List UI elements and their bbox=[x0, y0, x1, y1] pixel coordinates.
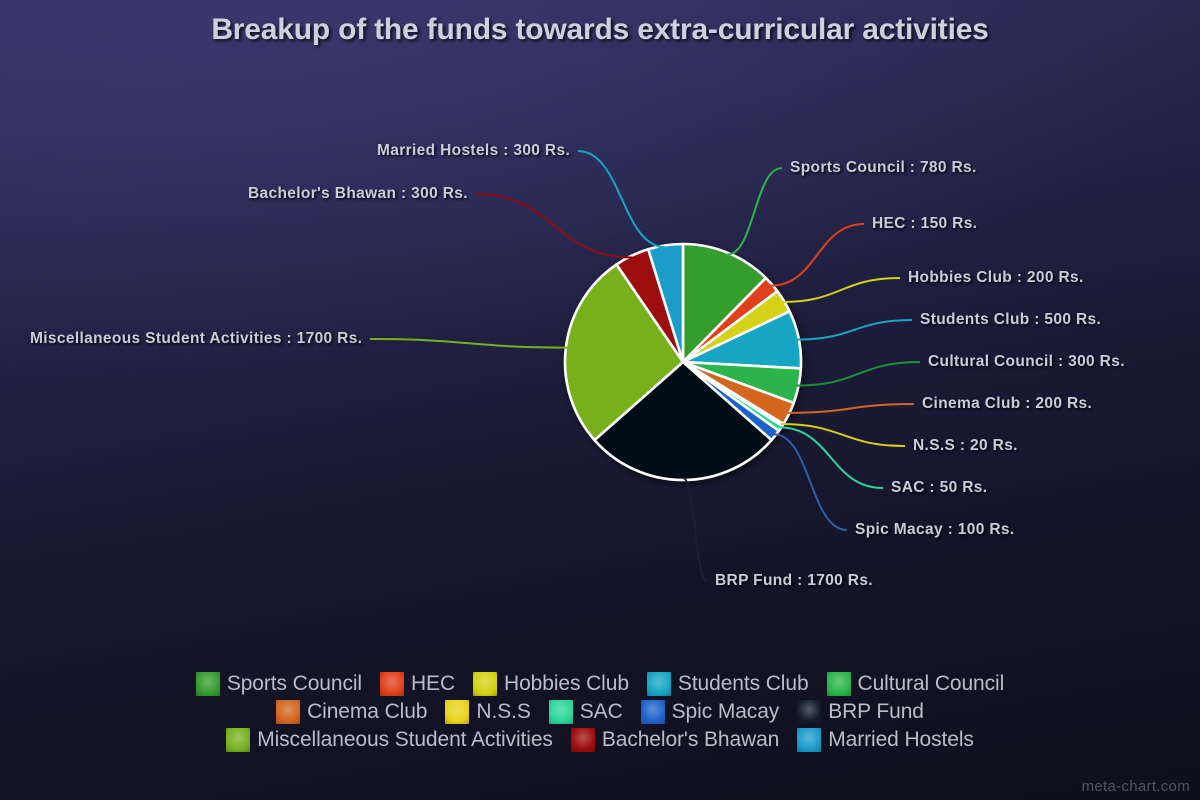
legend-swatch bbox=[445, 700, 469, 724]
legend-item[interactable]: Students Club bbox=[647, 672, 809, 696]
legend-swatch bbox=[641, 700, 665, 724]
legend-item[interactable]: Spic Macay bbox=[641, 700, 780, 724]
slice-callout-label: Cinema Club : 200 Rs. bbox=[922, 395, 1092, 413]
legend-swatch bbox=[797, 700, 821, 724]
legend-label: BRP Fund bbox=[828, 700, 924, 724]
watermark: meta-chart.com bbox=[1082, 778, 1190, 795]
legend-item[interactable]: Sports Council bbox=[196, 672, 362, 696]
chart-title: Breakup of the funds towards extra-curri… bbox=[0, 13, 1200, 47]
legend-item[interactable]: HEC bbox=[380, 672, 455, 696]
legend-item[interactable]: Cinema Club bbox=[276, 700, 427, 724]
legend-swatch bbox=[196, 672, 220, 696]
legend-swatch bbox=[380, 672, 404, 696]
chart-canvas: Breakup of the funds towards extra-curri… bbox=[0, 0, 1200, 800]
legend-item[interactable]: N.S.S bbox=[445, 700, 530, 724]
legend-label: N.S.S bbox=[476, 700, 530, 724]
legend-swatch bbox=[797, 728, 821, 752]
legend-item[interactable]: Cultural Council bbox=[827, 672, 1005, 696]
legend-item[interactable]: BRP Fund bbox=[797, 700, 924, 724]
legend-label: HEC bbox=[411, 672, 455, 696]
legend-label: Married Hostels bbox=[828, 728, 974, 752]
legend-label: Hobbies Club bbox=[504, 672, 629, 696]
slice-callout-label: SAC : 50 Rs. bbox=[891, 479, 987, 497]
legend-swatch bbox=[226, 728, 250, 752]
slice-callout-label: Sports Council : 780 Rs. bbox=[790, 159, 977, 177]
legend-swatch bbox=[276, 700, 300, 724]
slice-callout-label: Bachelor's Bhawan : 300 Rs. bbox=[248, 185, 468, 203]
legend-swatch bbox=[827, 672, 851, 696]
legend-label: Bachelor's Bhawan bbox=[602, 728, 779, 752]
slice-callout-label: Married Hostels : 300 Rs. bbox=[377, 142, 570, 160]
legend-swatch bbox=[571, 728, 595, 752]
legend-label: Spic Macay bbox=[672, 700, 780, 724]
legend-item[interactable]: SAC bbox=[549, 700, 623, 724]
legend-swatch bbox=[473, 672, 497, 696]
legend-row: Cinema ClubN.S.SSACSpic MacayBRP Fund bbox=[276, 700, 924, 724]
legend-label: Miscellaneous Student Activities bbox=[257, 728, 553, 752]
legend-item[interactable]: Miscellaneous Student Activities bbox=[226, 728, 553, 752]
legend-label: Students Club bbox=[678, 672, 809, 696]
legend-label: Sports Council bbox=[227, 672, 362, 696]
pie-chart bbox=[563, 242, 803, 482]
pie-slice-group bbox=[565, 244, 801, 480]
slice-callout-label: Students Club : 500 Rs. bbox=[920, 311, 1101, 329]
legend-row: Miscellaneous Student ActivitiesBachelor… bbox=[226, 728, 974, 752]
pie-svg bbox=[563, 242, 803, 482]
legend-item[interactable]: Married Hostels bbox=[797, 728, 974, 752]
legend-swatch bbox=[549, 700, 573, 724]
legend-label: Cinema Club bbox=[307, 700, 427, 724]
slice-callout-label: Hobbies Club : 200 Rs. bbox=[908, 269, 1084, 287]
legend-swatch bbox=[647, 672, 671, 696]
legend-item[interactable]: Bachelor's Bhawan bbox=[571, 728, 779, 752]
slice-callout-label: Cultural Council : 300 Rs. bbox=[928, 353, 1125, 371]
legend-label: Cultural Council bbox=[858, 672, 1005, 696]
legend-label: SAC bbox=[580, 700, 623, 724]
slice-callout-label: Miscellaneous Student Activities : 1700 … bbox=[30, 330, 362, 348]
slice-callout-label: Spic Macay : 100 Rs. bbox=[855, 521, 1015, 539]
legend-row: Sports CouncilHECHobbies ClubStudents Cl… bbox=[196, 672, 1004, 696]
slice-callout-label: BRP Fund : 1700 Rs. bbox=[715, 572, 873, 590]
slice-callout-label: HEC : 150 Rs. bbox=[872, 215, 977, 233]
chart-legend: Sports CouncilHECHobbies ClubStudents Cl… bbox=[0, 672, 1200, 752]
legend-item[interactable]: Hobbies Club bbox=[473, 672, 629, 696]
slice-callout-label: N.S.S : 20 Rs. bbox=[913, 437, 1018, 455]
